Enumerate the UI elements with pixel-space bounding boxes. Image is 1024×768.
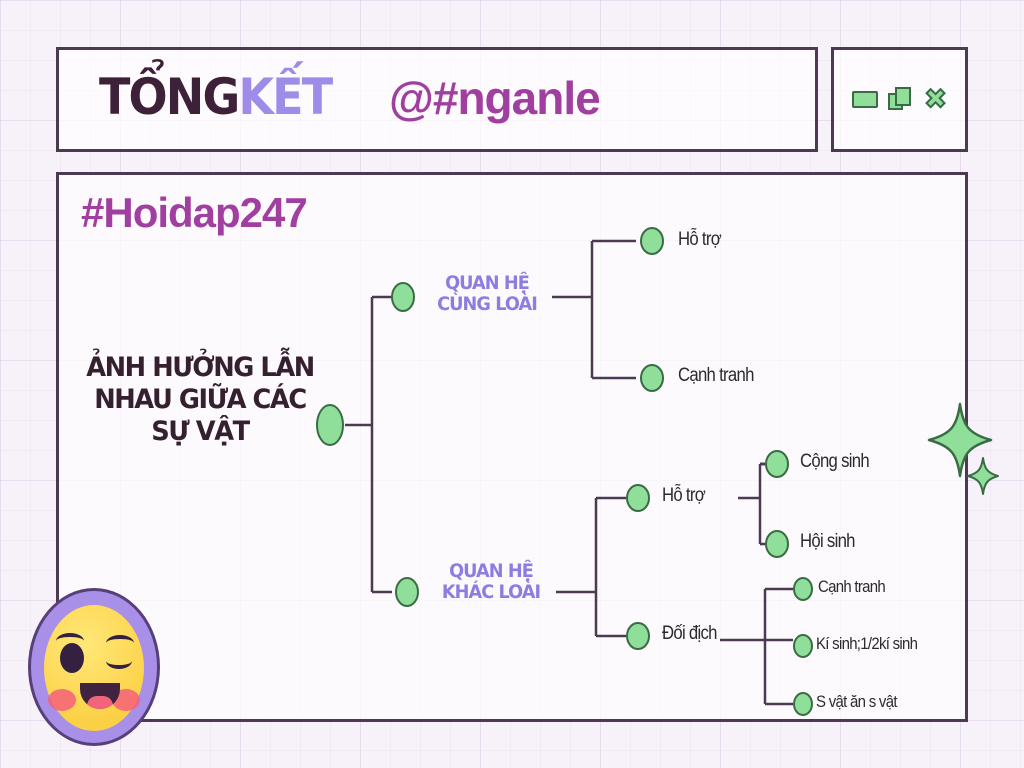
avatar-tongue xyxy=(87,696,113,709)
page-title: #Hoidap247 xyxy=(81,189,307,237)
logo-text-part2: KẾT xyxy=(238,68,331,126)
minimize-icon[interactable] xyxy=(852,91,878,108)
mindmap-node-sv-an-sv: S vật ăn s vật xyxy=(816,693,897,711)
mindmap-root-label: ẢNH HƯỞNG LẪN NHAU GIỮA CÁC SỰ VẬT xyxy=(86,352,314,448)
window-controls-panel: ✖ xyxy=(831,47,968,152)
maximize-icon[interactable] xyxy=(888,87,914,113)
mindmap-node-canh-tranh-khac-loai: Cạnh tranh xyxy=(818,578,885,596)
mindmap-node-cong-sinh: Cộng sinh xyxy=(800,452,869,472)
avatar-eye-wink xyxy=(106,653,132,669)
avatar-eye-open xyxy=(60,643,84,673)
user-handle: @#nganle xyxy=(389,72,600,125)
mindmap-node-ho-tro-cung-loai: Hỗ trợ xyxy=(678,230,721,250)
mindmap-node-ho-tro-khac-loai: Hỗ trợ xyxy=(662,486,705,506)
maximize-icon-front xyxy=(895,87,911,106)
window-controls-row: ✖ xyxy=(834,86,965,113)
logo-text-part1: TỔNG xyxy=(99,68,238,126)
mindmap-node-canh-tranh-cung-loai: Cạnh tranh xyxy=(678,366,754,386)
mindmap-node-quan-he-khac-loai: QUAN HỆ KHÁC LOÀI xyxy=(431,561,552,604)
avatar-brow-right xyxy=(106,635,134,651)
sparkle-small-icon xyxy=(965,455,1001,497)
avatar-face xyxy=(44,605,144,731)
mindmap-node-quan-he-cung-loai: QUAN HỆ CÙNG LOÀI xyxy=(427,273,548,316)
app-logo: TỔNGKẾT xyxy=(99,72,331,122)
mindmap-node-ki-sinh: Kí sinh;1/2kí sinh xyxy=(816,635,917,653)
mindmap-node-hoi-sinh: Hội sinh xyxy=(800,532,855,552)
header-title-panel: TỔNGKẾT @#nganle xyxy=(56,47,818,152)
avatar-blush-left xyxy=(48,689,76,711)
close-icon[interactable]: ✖ xyxy=(924,86,947,113)
mindmap-node-doi-dich: Đối địch xyxy=(662,624,717,644)
avatar[interactable] xyxy=(28,588,160,746)
